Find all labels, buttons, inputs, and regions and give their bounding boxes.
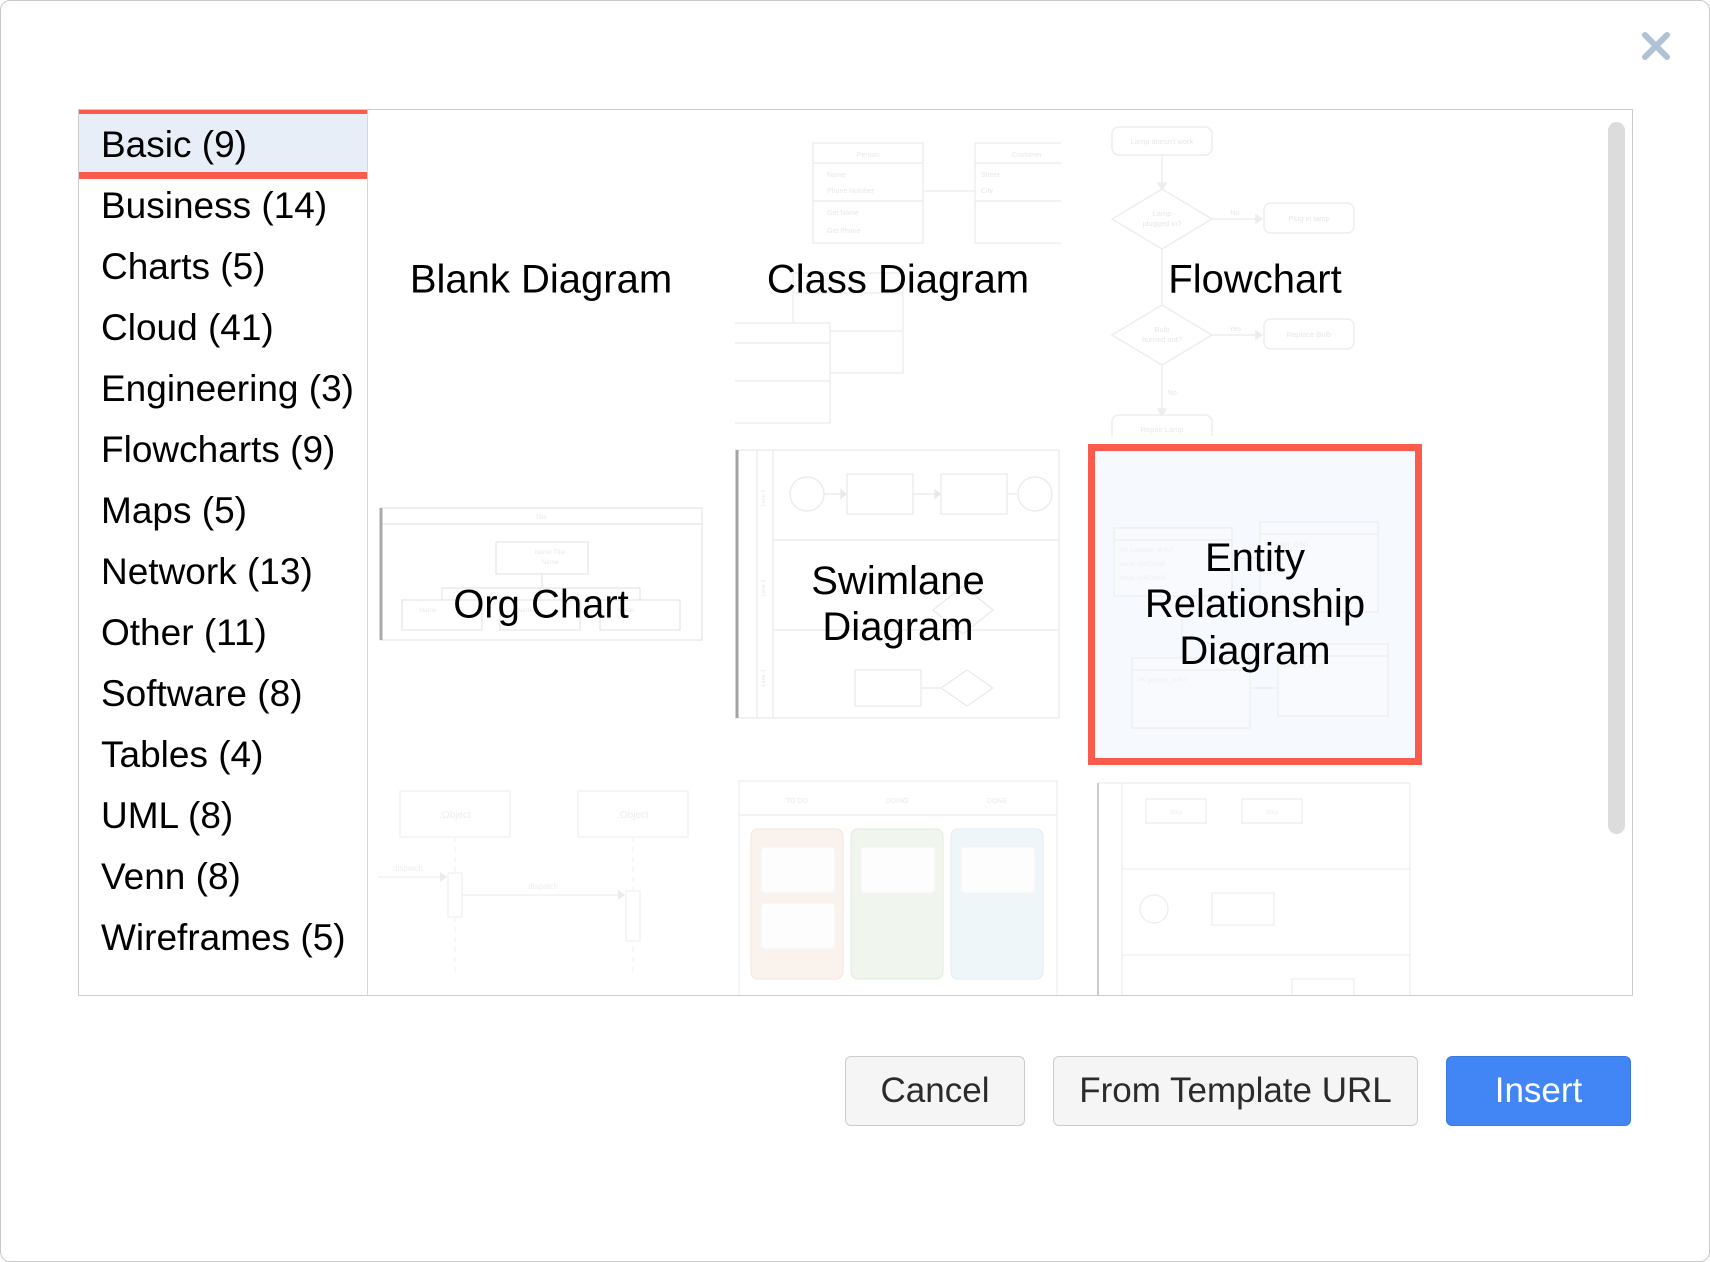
content-scrollbar[interactable] <box>1608 122 1625 960</box>
template-grid: Blank Diagram <box>368 110 1632 995</box>
svg-text:DONE: DONE <box>987 798 1008 805</box>
svg-text:Name Title: Name Title <box>534 549 565 556</box>
sidebar-item-cloud[interactable]: Cloud (41) <box>79 297 367 358</box>
svg-text:burned out?: burned out? <box>1142 335 1182 344</box>
sidebar-item-flowcharts[interactable]: Flowcharts (9) <box>79 419 367 480</box>
category-sidebar[interactable]: Basic (9) Business (14) Charts (5) Cloud… <box>79 110 368 995</box>
svg-text:dispatch: dispatch <box>528 882 558 891</box>
template-tile-org-chart[interactable]: Title Name Title Name Name Name Name Org… <box>378 448 704 761</box>
template-tile-simple-kanban[interactable]: TO DO DOING DONE Simple Kanban <box>735 773 1061 995</box>
template-tile-label: Flowchart <box>1092 256 1418 303</box>
svg-text:Plug in lamp: Plug in lamp <box>1288 214 1329 223</box>
sidebar-item-charts[interactable]: Charts (5) <box>79 236 367 297</box>
sidebar-item-tables[interactable]: Tables (4) <box>79 724 367 785</box>
svg-text:Street: Street <box>981 172 1000 179</box>
template-tile-sequence[interactable]: :Object :Object dispatch dispatch Sequen… <box>378 773 704 995</box>
dialog-body: Basic (9) Business (14) Charts (5) Cloud… <box>78 109 1633 996</box>
template-tile-flowchart[interactable]: Lamp doesn't work Lamp plugged in? No Pl… <box>1092 123 1418 436</box>
svg-text::Object: :Object <box>439 810 471 821</box>
sidebar-item-label: Flowcharts (9) <box>101 429 335 470</box>
simple-kanban-thumbnail-icon: TO DO DOING DONE <box>735 773 1061 995</box>
sidebar-item-label: UML (8) <box>101 795 233 836</box>
svg-text:Name: Name <box>541 559 559 566</box>
svg-text:Customer: Customer <box>1012 152 1043 159</box>
sidebar-item-other[interactable]: Other (11) <box>79 602 367 663</box>
template-tile-swimlane-diagram[interactable]: Lane 1 Lane 2 Lane 3 Swimlane Diagram <box>735 448 1061 761</box>
sidebar-item-label: Engineering (3) <box>101 368 354 409</box>
sidebar-item-network[interactable]: Network (13) <box>79 541 367 602</box>
svg-text:Lamp: Lamp <box>1153 209 1172 218</box>
template-tile-label: Class Diagram <box>735 256 1061 303</box>
svg-text:Title: Title <box>535 514 547 521</box>
svg-text:Get Phone: Get Phone <box>827 228 861 235</box>
sidebar-item-label: Network (13) <box>101 551 313 592</box>
sidebar-item-venn[interactable]: Venn (8) <box>79 846 367 907</box>
svg-text:No: No <box>1167 388 1177 397</box>
sidebar-item-uml[interactable]: UML (8) <box>79 785 367 846</box>
sidebar-item-wireframes[interactable]: Wireframes (5) <box>79 907 367 968</box>
sidebar-item-basic[interactable]: Basic (9) <box>79 114 367 175</box>
svg-text:Lamp doesn't work: Lamp doesn't work <box>1131 137 1194 146</box>
template-tile-label: Entity Relationship Diagram <box>1092 534 1418 674</box>
sidebar-item-label: Wireframes (5) <box>101 917 346 958</box>
content-scrollbar-thumb[interactable] <box>1608 122 1625 834</box>
template-tile-label: Org Chart <box>378 581 704 628</box>
sidebar-item-engineering[interactable]: Engineering (3) <box>79 358 367 419</box>
svg-text:Lane 1: Lane 1 <box>761 490 767 507</box>
from-template-url-button[interactable]: From Template URL <box>1053 1056 1418 1126</box>
insert-template-dialog: Basic (9) Business (14) Charts (5) Cloud… <box>0 0 1710 1262</box>
svg-text:plugged in?: plugged in? <box>1143 219 1182 228</box>
svg-text:Bulb: Bulb <box>1154 325 1169 334</box>
svg-text:Name: Name <box>827 172 846 179</box>
svg-text:DOING: DOING <box>886 798 909 805</box>
close-icon[interactable] <box>1631 21 1681 71</box>
svg-text::Object: :Object <box>617 810 649 821</box>
svg-text:PK product_id INT: PK product_id INT <box>1138 678 1187 684</box>
sidebar-item-software[interactable]: Software (8) <box>79 663 367 724</box>
insert-button[interactable]: Insert <box>1446 1056 1631 1126</box>
cross-functional-thumbnail-icon: Step Step <box>1092 773 1418 995</box>
svg-text:TO DO: TO DO <box>786 798 809 805</box>
sidebar-item-label: Software (8) <box>101 673 303 714</box>
template-area: Blank Diagram <box>368 110 1632 995</box>
svg-text:Person: Person <box>857 152 879 159</box>
svg-text:No: No <box>1230 208 1240 217</box>
template-tile-class-diagram[interactable]: Person Name Phone Number Get Name Get Ph… <box>735 123 1061 436</box>
sidebar-item-business[interactable]: Business (14) <box>79 175 367 236</box>
template-tile-blank-diagram[interactable]: Blank Diagram <box>378 123 704 436</box>
svg-text:City: City <box>981 188 994 195</box>
svg-text:dispatch: dispatch <box>393 864 423 873</box>
dialog-footer: Cancel From Template URL Insert <box>1 1021 1709 1161</box>
svg-text:Repair Lamp: Repair Lamp <box>1141 425 1184 434</box>
sidebar-item-label: Maps (5) <box>101 490 247 531</box>
sidebar-item-label: Tables (4) <box>101 734 263 775</box>
svg-text:Step: Step <box>1266 810 1279 816</box>
svg-text:Yes: Yes <box>1229 324 1241 333</box>
svg-text:Phone Number: Phone Number <box>827 188 875 195</box>
template-tile-label: Blank Diagram <box>378 256 704 303</box>
template-tile-label: Swimlane Diagram <box>735 558 1061 652</box>
sidebar-item-maps[interactable]: Maps (5) <box>79 480 367 541</box>
cancel-button[interactable]: Cancel <box>845 1056 1025 1126</box>
sidebar-item-label: Cloud (41) <box>101 307 274 348</box>
sidebar-item-label: Basic (9) <box>101 124 247 165</box>
template-tile-cross-functional[interactable]: Step Step Cross-Functional <box>1092 773 1418 995</box>
sidebar-item-label: Other (11) <box>101 612 267 653</box>
svg-text:Lane 3: Lane 3 <box>761 670 767 687</box>
sequence-thumbnail-icon: :Object :Object dispatch dispatch <box>378 773 704 995</box>
template-tile-entity-relationship-diagram[interactable]: PK customer_id INT name VARCHAR email VA… <box>1092 448 1418 761</box>
svg-text:Replace Bulb: Replace Bulb <box>1287 330 1332 339</box>
svg-text:Step: Step <box>1170 810 1183 816</box>
sidebar-item-label: Charts (5) <box>101 246 265 287</box>
sidebar-item-label: Business (14) <box>101 185 327 226</box>
svg-text:Get Name: Get Name <box>827 210 859 217</box>
sidebar-item-label: Venn (8) <box>101 856 241 897</box>
